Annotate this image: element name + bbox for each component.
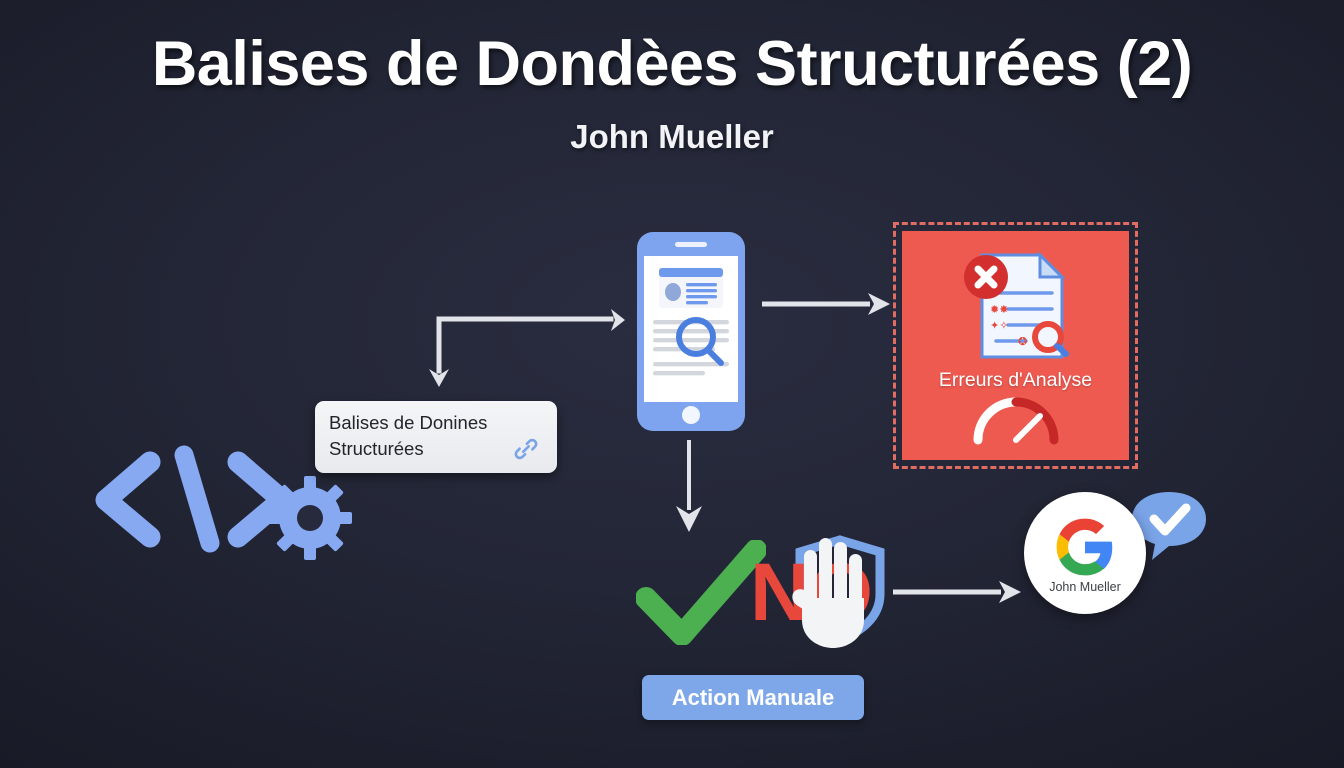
link-icon bbox=[513, 436, 539, 462]
page-title: Balises de Dondèes Structurées (2) bbox=[0, 28, 1344, 100]
label-card-line2: Structurées bbox=[329, 436, 509, 462]
google-g-logo bbox=[1054, 516, 1116, 578]
arrow-phone-to-errors bbox=[762, 292, 890, 316]
svg-text:✦✧: ✦✧ bbox=[990, 320, 1008, 332]
structured-data-label-card[interactable]: Balises de Donines Structurées bbox=[315, 401, 557, 473]
no-manual-action-icon: NO bbox=[748, 528, 896, 650]
mobile-search-illustration bbox=[637, 232, 745, 431]
green-check-icon bbox=[636, 540, 766, 645]
svg-text:✪: ✪ bbox=[1018, 336, 1027, 348]
avatar-circle: John Mueller bbox=[1024, 492, 1146, 614]
arrow-phone-to-action bbox=[672, 440, 706, 532]
avatar-name: John Mueller bbox=[1049, 580, 1121, 594]
arrow-code-to-label-and-phone bbox=[425, 305, 625, 395]
action-manuale-label: Action Manuale bbox=[672, 685, 835, 711]
document-error-icon: ✹✸ ✦✧ ✪ bbox=[956, 247, 1076, 365]
page-subtitle: John Mueller bbox=[0, 118, 1344, 156]
arrow-action-to-avatar bbox=[893, 580, 1021, 604]
svg-text:✹✸: ✹✸ bbox=[990, 304, 1008, 316]
google-avatar[interactable]: John Mueller bbox=[1024, 492, 1204, 617]
parse-errors-panel: ✹✸ ✦✧ ✪ Erreurs d'Analyse bbox=[893, 222, 1138, 469]
slide-canvas: Balises de Dondèes Structurées (2) John … bbox=[0, 0, 1344, 768]
parse-errors-label: Erreurs d'Analyse bbox=[939, 369, 1092, 392]
parse-errors-panel-inner: ✹✸ ✦✧ ✪ Erreurs d'Analyse bbox=[902, 231, 1129, 460]
gauge-icon bbox=[970, 394, 1062, 446]
action-manuale-button[interactable]: Action Manuale bbox=[642, 675, 864, 720]
label-card-line1: Balises de Donines bbox=[329, 410, 509, 436]
